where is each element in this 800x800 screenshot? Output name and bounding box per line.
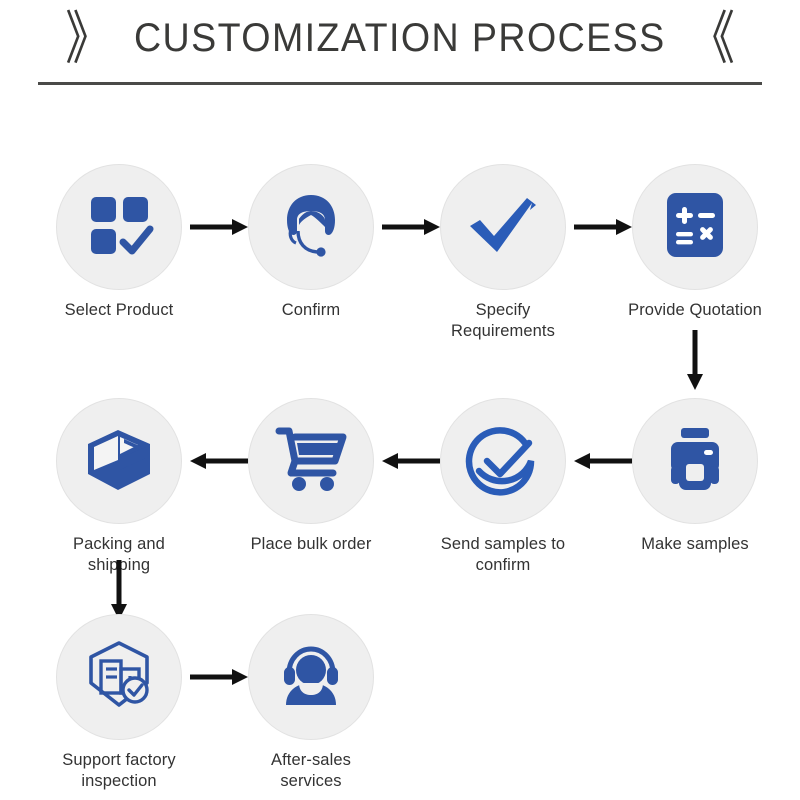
step-label: Support factory inspection bbox=[51, 750, 187, 792]
circle-check-icon bbox=[463, 419, 543, 504]
support-person-icon bbox=[273, 637, 349, 718]
process-step-specify-requirements[interactable]: Specify Requirements bbox=[435, 164, 571, 342]
arrow-bulk-order-to-packing bbox=[190, 452, 248, 470]
printer-icon bbox=[658, 422, 732, 501]
arrow-make-samples-to-send-samples bbox=[574, 452, 632, 470]
step-icon-disc bbox=[248, 614, 374, 740]
headset-agent-icon bbox=[273, 187, 349, 268]
process-step-after-sales-services[interactable]: After-sales services bbox=[243, 614, 379, 792]
process-step-select-product[interactable]: Select Product bbox=[51, 164, 187, 321]
step-icon-disc bbox=[248, 398, 374, 524]
arrow-select-to-confirm bbox=[190, 218, 248, 236]
step-label: After-sales services bbox=[243, 750, 379, 792]
step-label: Confirm bbox=[243, 300, 379, 321]
step-icon-disc bbox=[56, 398, 182, 524]
process-step-provide-quotation[interactable]: Provide Quotation bbox=[627, 164, 763, 321]
step-icon-disc bbox=[248, 164, 374, 290]
step-icon-disc bbox=[56, 164, 182, 290]
arrow-send-samples-to-bulk-order bbox=[382, 452, 440, 470]
package-box-icon bbox=[80, 420, 158, 503]
process-flow-diagram: Select Product Confirm bbox=[0, 0, 800, 800]
step-icon-disc bbox=[440, 164, 566, 290]
process-step-make-samples[interactable]: Make samples bbox=[627, 398, 763, 555]
calculator-icon bbox=[660, 190, 730, 265]
arrow-specify-to-quotation bbox=[574, 218, 632, 236]
process-step-send-samples-to-confirm[interactable]: Send samples to confirm bbox=[435, 398, 571, 576]
arrow-inspection-to-after-sales bbox=[190, 668, 248, 686]
process-step-support-factory-inspection[interactable]: Support factory inspection bbox=[51, 614, 187, 792]
step-icon-disc bbox=[632, 164, 758, 290]
step-label: Select Product bbox=[51, 300, 187, 321]
step-icon-disc bbox=[440, 398, 566, 524]
arrow-packing-to-inspection bbox=[110, 560, 128, 620]
step-label: Specify Requirements bbox=[435, 300, 571, 342]
process-step-place-bulk-order[interactable]: Place bulk order bbox=[243, 398, 379, 555]
arrow-quotation-to-make-samples bbox=[686, 330, 704, 390]
step-label: Send samples to confirm bbox=[435, 534, 571, 576]
arrow-confirm-to-specify bbox=[382, 218, 440, 236]
factory-inspection-shield-icon bbox=[79, 635, 159, 720]
step-icon-disc bbox=[632, 398, 758, 524]
step-label: Provide Quotation bbox=[627, 300, 763, 321]
shopping-cart-icon bbox=[273, 421, 349, 502]
grid-check-icon bbox=[83, 189, 155, 266]
checkmark-icon bbox=[464, 186, 542, 269]
process-step-confirm[interactable]: Confirm bbox=[243, 164, 379, 321]
step-label: Place bulk order bbox=[243, 534, 379, 555]
process-step-packing-and-shipping[interactable]: Packing and shipping bbox=[51, 398, 187, 576]
step-label: Make samples bbox=[627, 534, 763, 555]
step-icon-disc bbox=[56, 614, 182, 740]
